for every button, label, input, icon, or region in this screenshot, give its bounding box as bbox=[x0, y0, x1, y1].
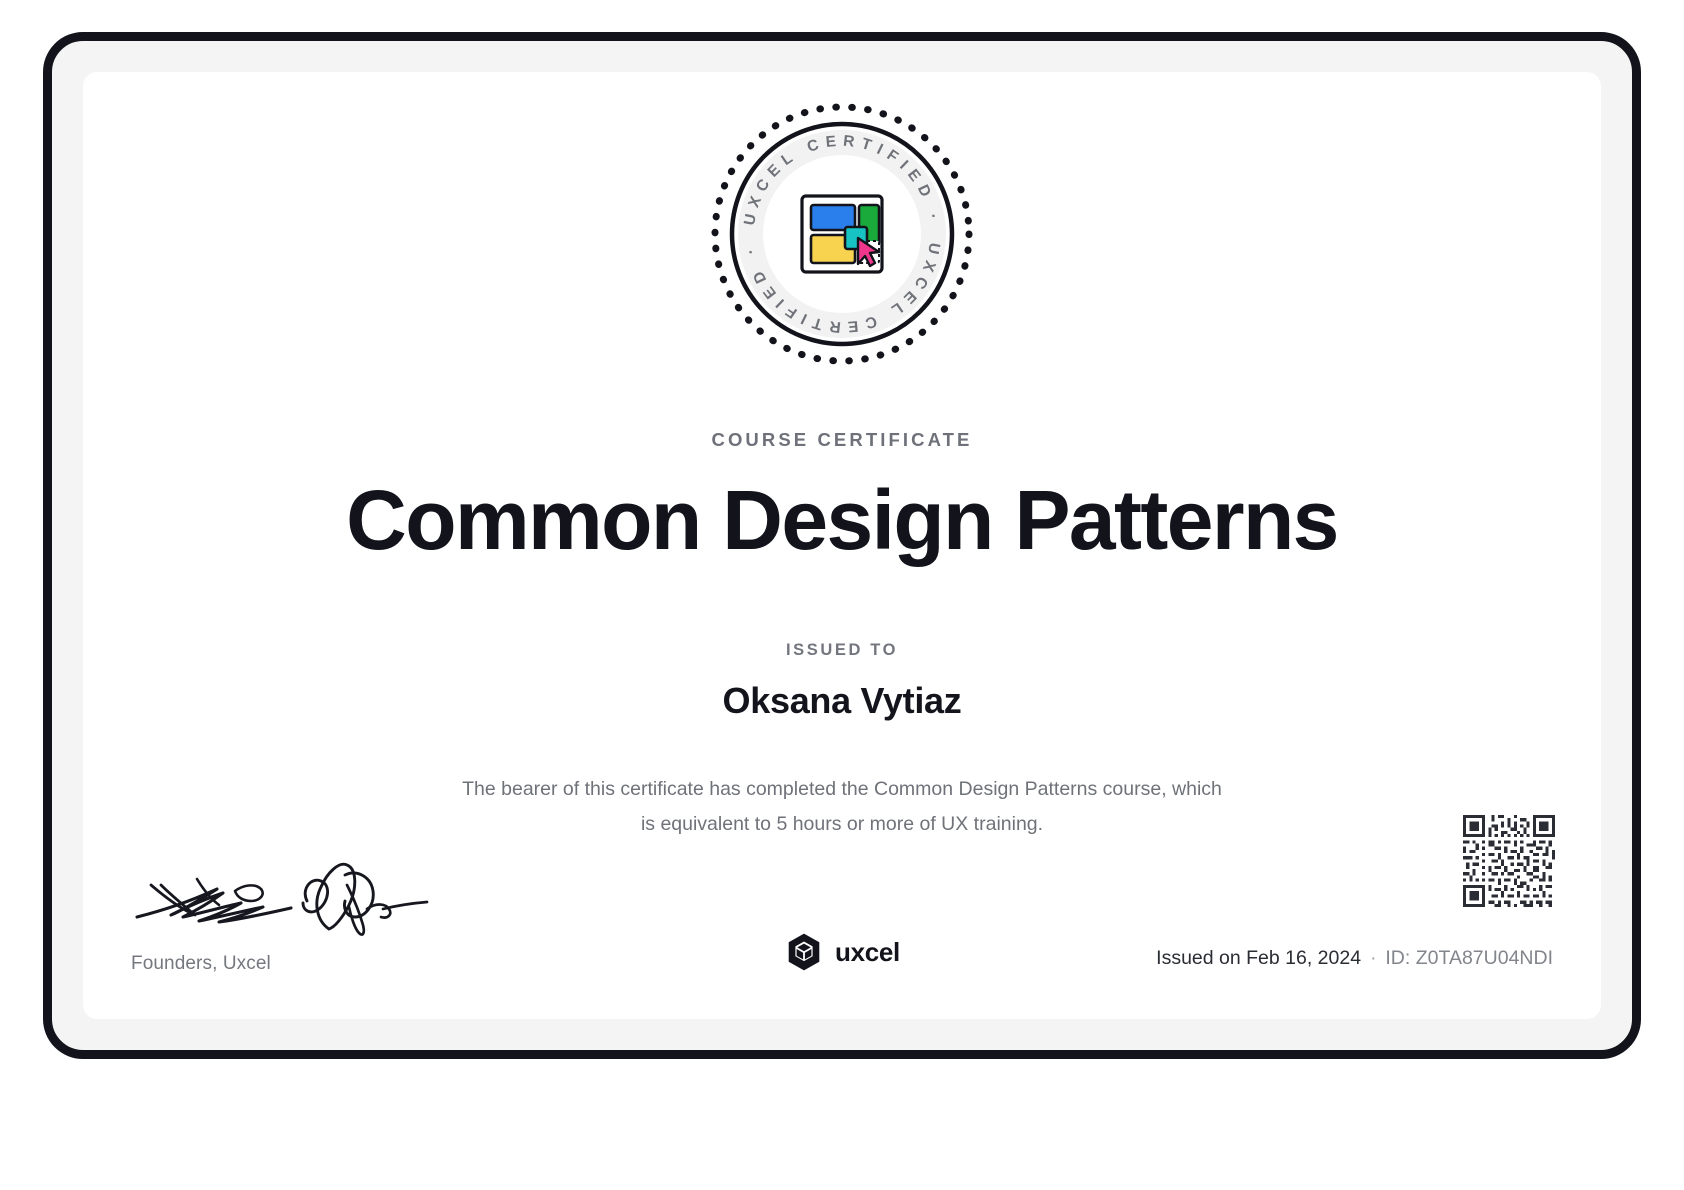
certification-seal: UXCEL CERTIFIED · UXCEL CERTIFIED · bbox=[708, 100, 976, 368]
page-title: Common Design Patterns bbox=[83, 478, 1601, 562]
issued-on-date: Issued on Feb 16, 2024 bbox=[1156, 947, 1361, 970]
kicker-label: COURSE CERTIFICATE bbox=[83, 429, 1601, 451]
qr-code-icon bbox=[1463, 815, 1555, 907]
signature-block: Founders, Uxcel bbox=[131, 855, 491, 975]
seal-graphic: UXCEL CERTIFIED · UXCEL CERTIFIED · bbox=[708, 100, 976, 368]
brand-name: uxcel bbox=[835, 937, 900, 968]
issued-to-label: ISSUED TO bbox=[83, 641, 1601, 660]
meta-separator: · bbox=[1370, 948, 1376, 970]
brand-logo: uxcel bbox=[784, 932, 900, 972]
recipient-name: Oksana Vytiaz bbox=[83, 680, 1601, 722]
certificate-footer: Founders, Uxcel uxcel bbox=[83, 789, 1601, 1019]
design-patterns-icon bbox=[802, 196, 882, 272]
certificate-card: UXCEL CERTIFIED · UXCEL CERTIFIED · bbox=[83, 72, 1601, 1019]
qr-code[interactable] bbox=[1463, 815, 1555, 907]
certificate-page: UXCEL CERTIFIED · UXCEL CERTIFIED · bbox=[0, 0, 1684, 1190]
uxcel-cube-logo-icon bbox=[784, 932, 824, 972]
signature-caption: Founders, Uxcel bbox=[131, 953, 491, 975]
certificate-frame: UXCEL CERTIFIED · UXCEL CERTIFIED · bbox=[43, 32, 1641, 1059]
certificate-id: ID: Z0TA87U04NDI bbox=[1385, 947, 1553, 970]
issue-meta: Issued on Feb 16, 2024 · ID: Z0TA87U04ND… bbox=[1156, 947, 1553, 970]
founders-signatures-icon bbox=[131, 855, 431, 941]
